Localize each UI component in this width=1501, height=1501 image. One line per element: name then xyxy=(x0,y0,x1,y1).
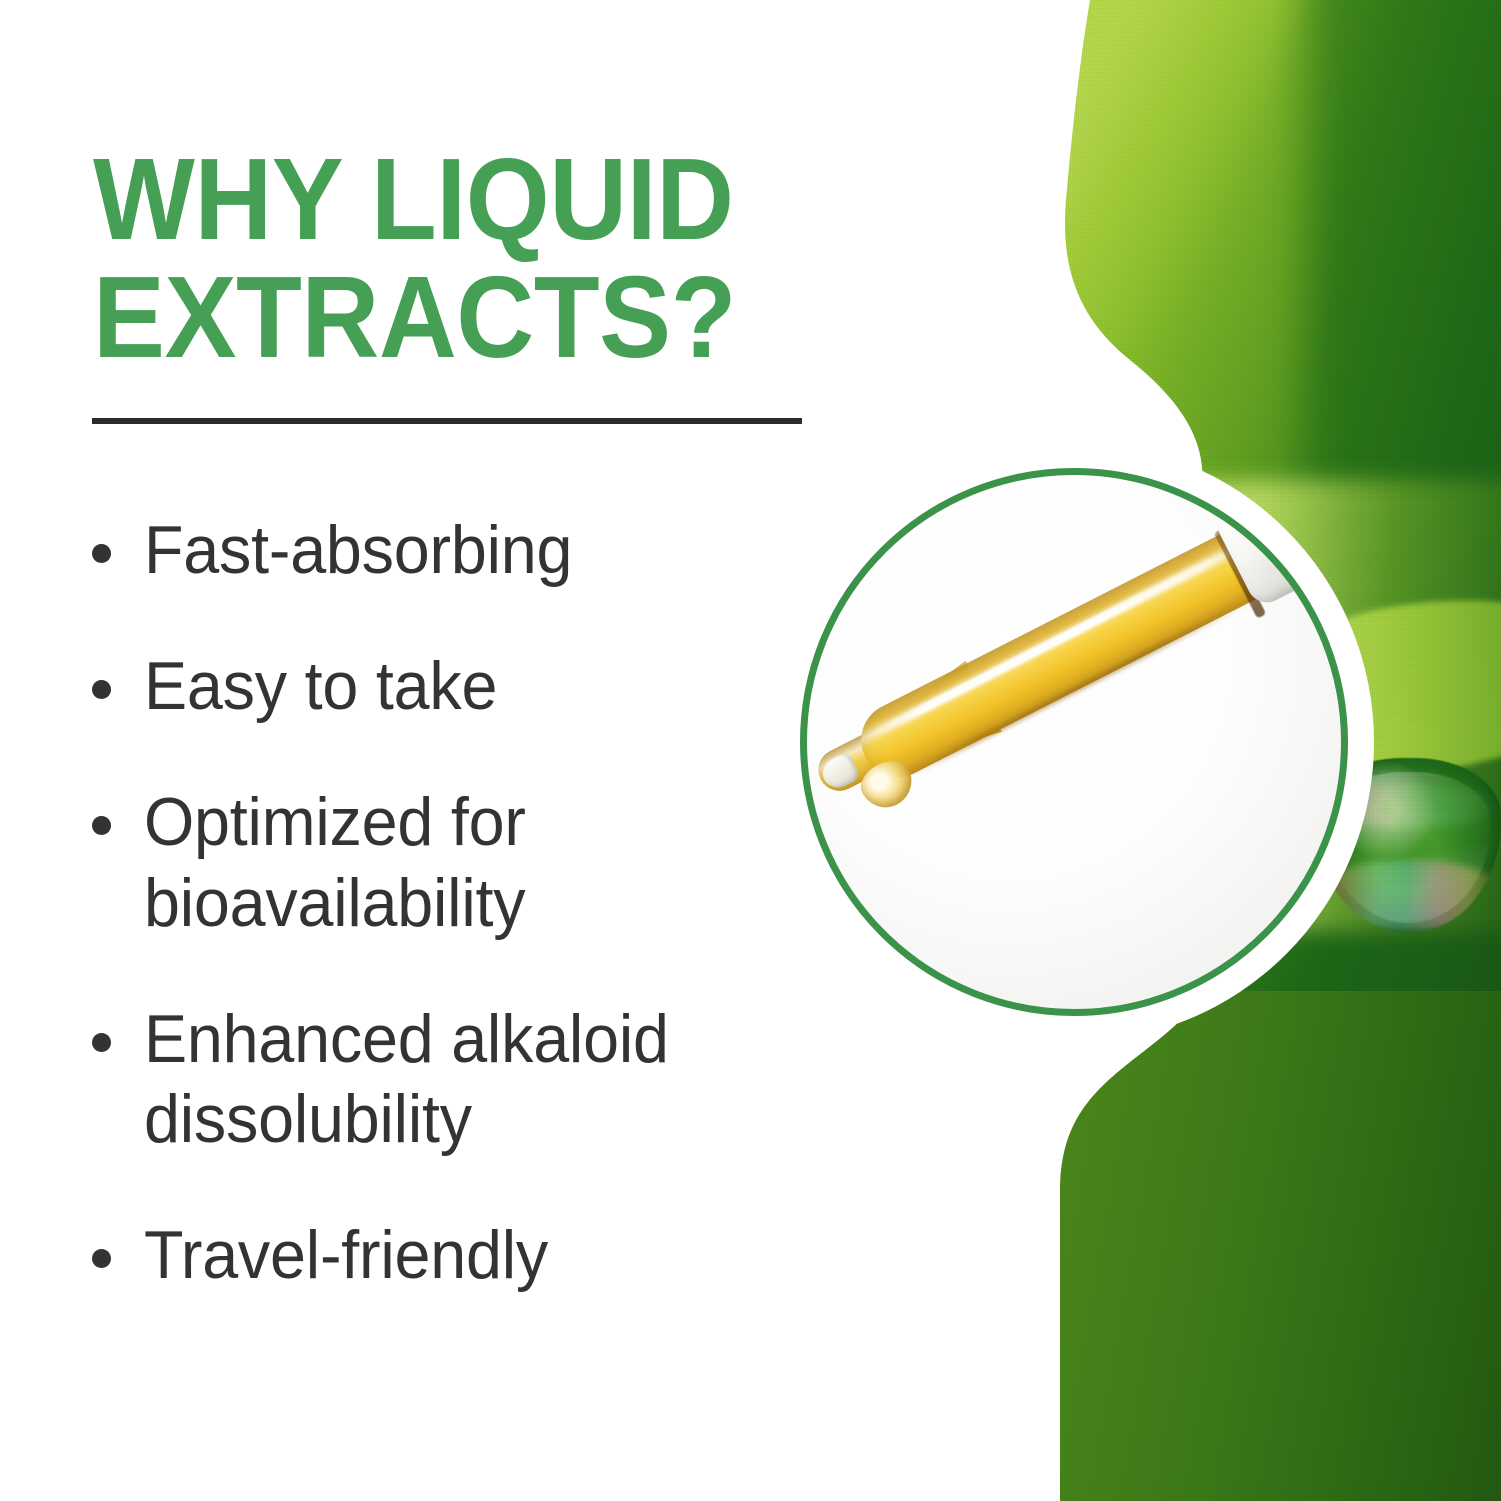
list-item-label: Optimized for bioavailability xyxy=(144,782,798,942)
title-divider-rule xyxy=(92,418,802,424)
list-item-label: Travel-friendly xyxy=(144,1215,548,1295)
list-item: Fast-absorbing xyxy=(92,510,832,590)
bullet-dot-icon xyxy=(92,680,111,699)
bullet-dot-icon xyxy=(92,1033,111,1052)
bulb-groove xyxy=(1272,490,1316,570)
list-item: Optimized for bioavailability xyxy=(92,782,832,942)
list-item: Enhanced alkaloid dissolubility xyxy=(92,999,832,1159)
list-item: Easy to take xyxy=(92,646,832,726)
bullet-dot-icon xyxy=(92,1249,111,1268)
bullet-dot-icon xyxy=(92,816,111,835)
list-item-label: Enhanced alkaloid dissolubility xyxy=(144,999,798,1159)
list-item-label: Easy to take xyxy=(144,646,497,726)
marketing-graphic: WHY LIQUID EXTRACTS? Fast-absorbing Easy… xyxy=(0,0,1501,1501)
benefits-list: Fast-absorbing Easy to take Optimized fo… xyxy=(92,510,832,1352)
text-content-column: WHY LIQUID EXTRACTS? Fast-absorbing Easy… xyxy=(0,0,1060,1501)
page-title: WHY LIQUID EXTRACTS? xyxy=(93,140,800,377)
list-item: Travel-friendly xyxy=(92,1215,832,1295)
list-item-label: Fast-absorbing xyxy=(144,510,572,590)
bullet-dot-icon xyxy=(92,544,111,563)
